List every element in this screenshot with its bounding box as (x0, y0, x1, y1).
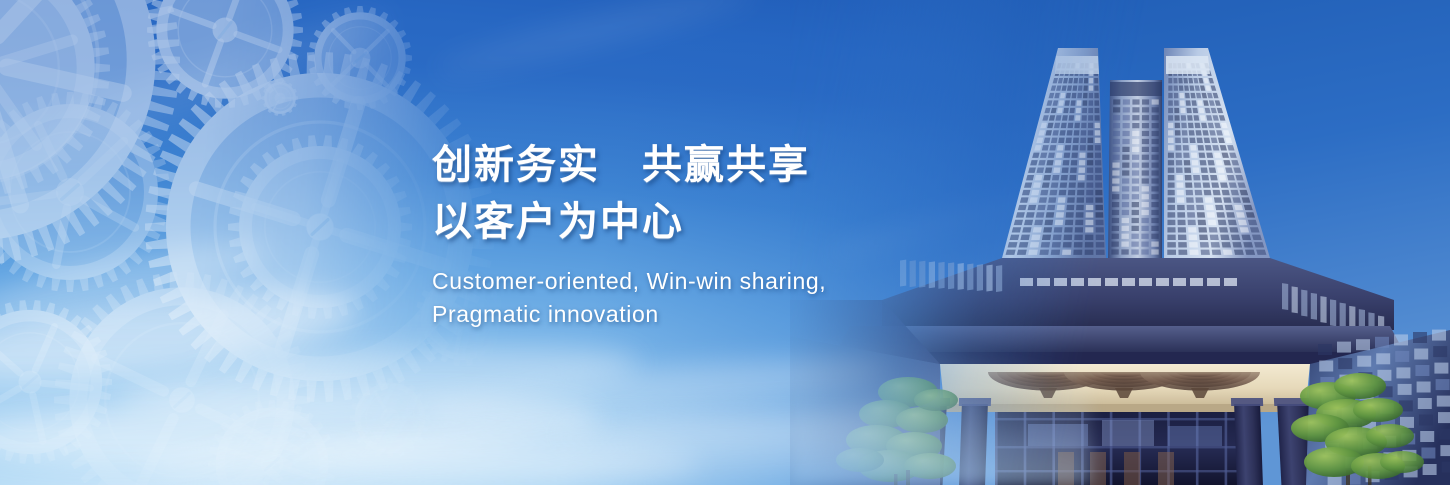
subhead-english-line2: Pragmatic innovation (432, 298, 992, 331)
headline-chinese-line2: 以客户为中心 (432, 197, 992, 248)
corporate-banner: 创新务实 共赢共享 以客户为中心 Customer-oriented, Win-… (0, 0, 1450, 485)
headline-chinese-line1: 创新务实 共赢共享 (432, 140, 992, 191)
banner-copy: 创新务实 共赢共享 以客户为中心 Customer-oriented, Win-… (432, 140, 992, 331)
subhead-english-line1: Customer-oriented, Win-win sharing, (432, 265, 992, 298)
subhead-english: Customer-oriented, Win-win sharing, Prag… (432, 265, 992, 330)
